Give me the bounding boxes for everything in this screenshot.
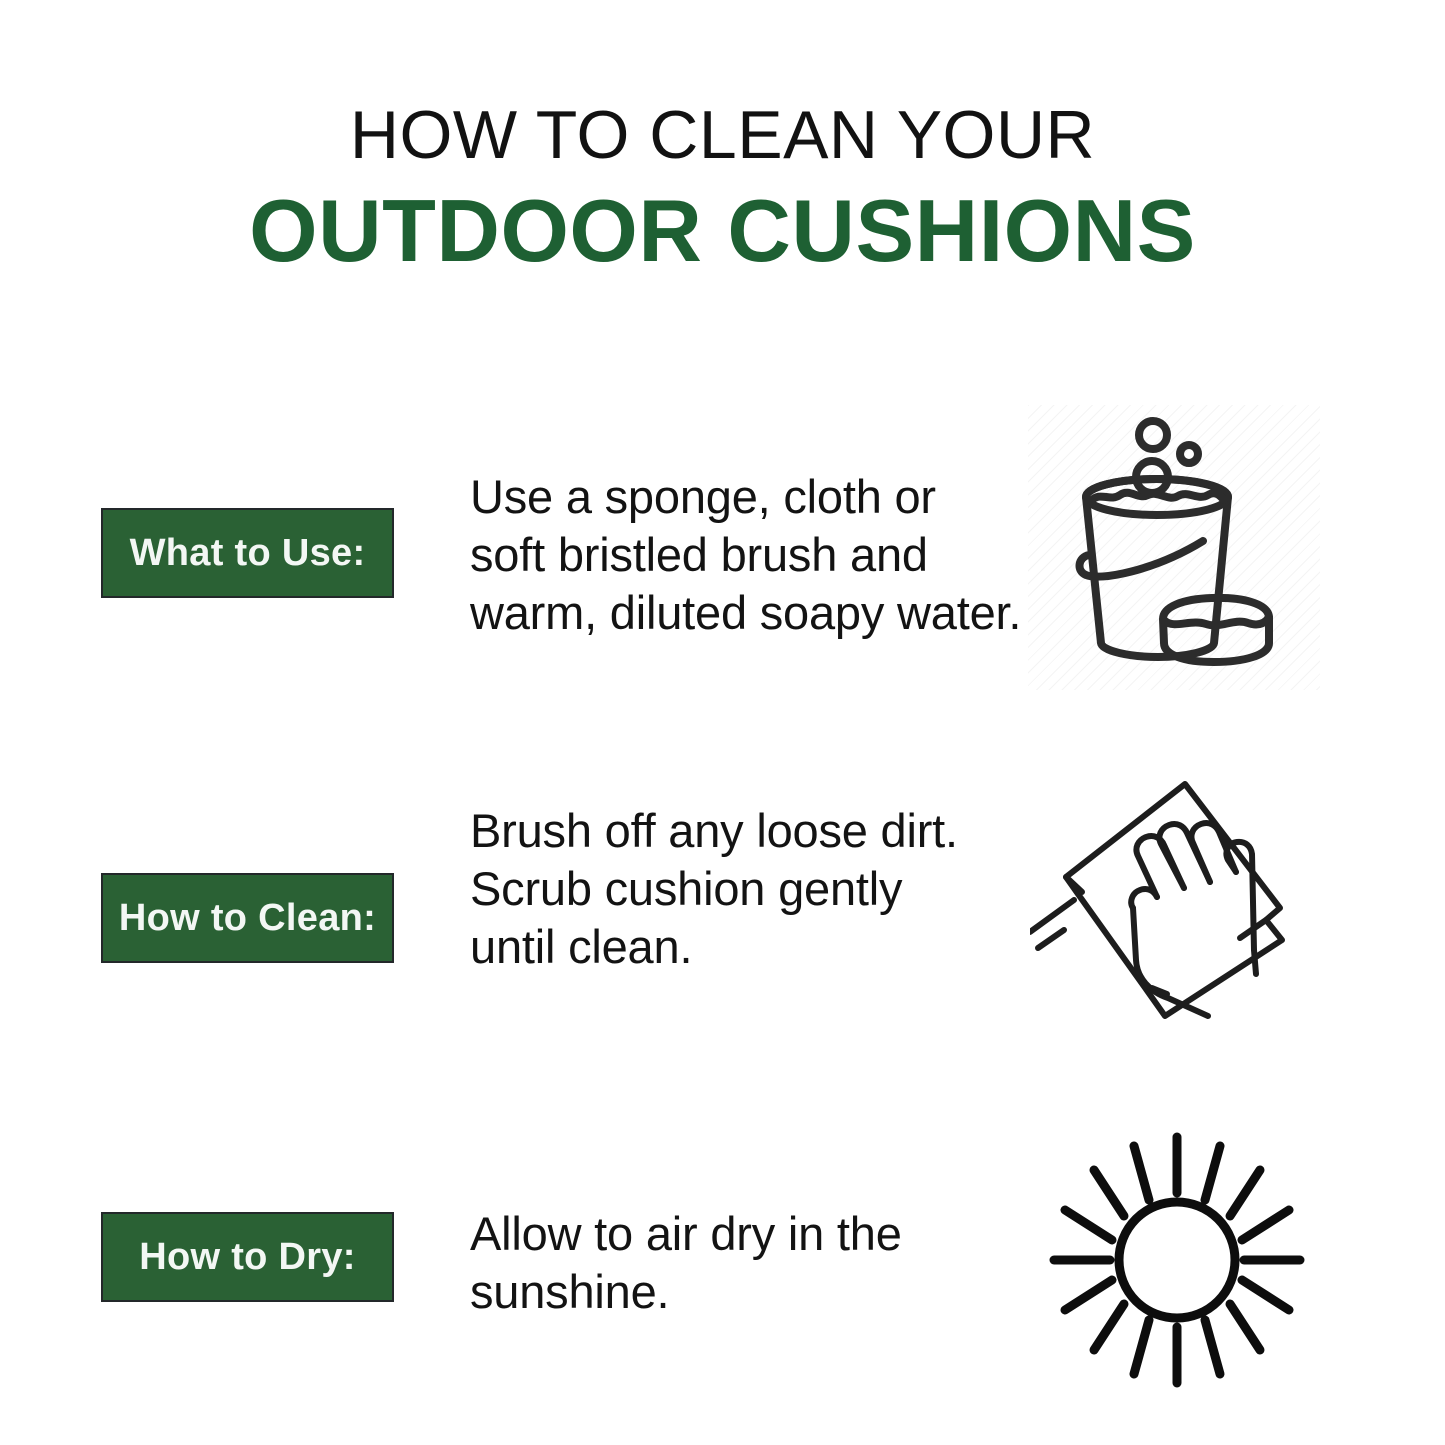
section-what-to-use: What to Use: Use a sponge, cloth or soft… bbox=[0, 400, 1445, 700]
body-line: warm, diluted soapy water. bbox=[470, 584, 1030, 642]
body-line: Use a sponge, cloth or bbox=[470, 468, 1030, 526]
body-text-how-to-clean: Brush off any loose dirt. Scrub cushion … bbox=[470, 802, 1030, 976]
infographic-page: HOW TO CLEAN YOUR OUTDOOR CUSHIONS What … bbox=[0, 0, 1445, 1445]
body-text-what-to-use: Use a sponge, cloth or soft bristled bru… bbox=[470, 468, 1030, 642]
section-how-to-clean: How to Clean: Brush off any loose dirt. … bbox=[0, 760, 1445, 1060]
body-line: Scrub cushion gently bbox=[470, 860, 1030, 918]
body-line: Brush off any loose dirt. bbox=[470, 802, 1030, 860]
sun-icon bbox=[1032, 1115, 1322, 1405]
title-line-2: OUTDOOR CUSHIONS bbox=[0, 182, 1445, 280]
body-line: Allow to air dry in the bbox=[470, 1205, 1030, 1263]
body-line: sunshine. bbox=[470, 1263, 1030, 1321]
section-how-to-dry: How to Dry: Allow to air dry in the suns… bbox=[0, 1105, 1445, 1405]
bucket-with-suds-and-sponge-icon bbox=[1028, 405, 1318, 695]
label-box-how-to-dry: How to Dry: bbox=[101, 1212, 394, 1302]
body-line: soft bristled brush and bbox=[470, 526, 1030, 584]
label-text-how-to-dry: How to Dry: bbox=[139, 1235, 356, 1279]
title-line-1: HOW TO CLEAN YOUR bbox=[0, 96, 1445, 174]
hand-wiping-with-cloth-icon bbox=[1030, 760, 1320, 1050]
body-line: until clean. bbox=[470, 918, 1030, 976]
body-text-how-to-dry: Allow to air dry in the sunshine. bbox=[470, 1205, 1030, 1321]
label-box-what-to-use: What to Use: bbox=[101, 508, 394, 598]
header: HOW TO CLEAN YOUR OUTDOOR CUSHIONS bbox=[0, 96, 1445, 280]
label-box-how-to-clean: How to Clean: bbox=[101, 873, 394, 963]
label-text-what-to-use: What to Use: bbox=[130, 531, 366, 575]
label-text-how-to-clean: How to Clean: bbox=[119, 896, 376, 940]
